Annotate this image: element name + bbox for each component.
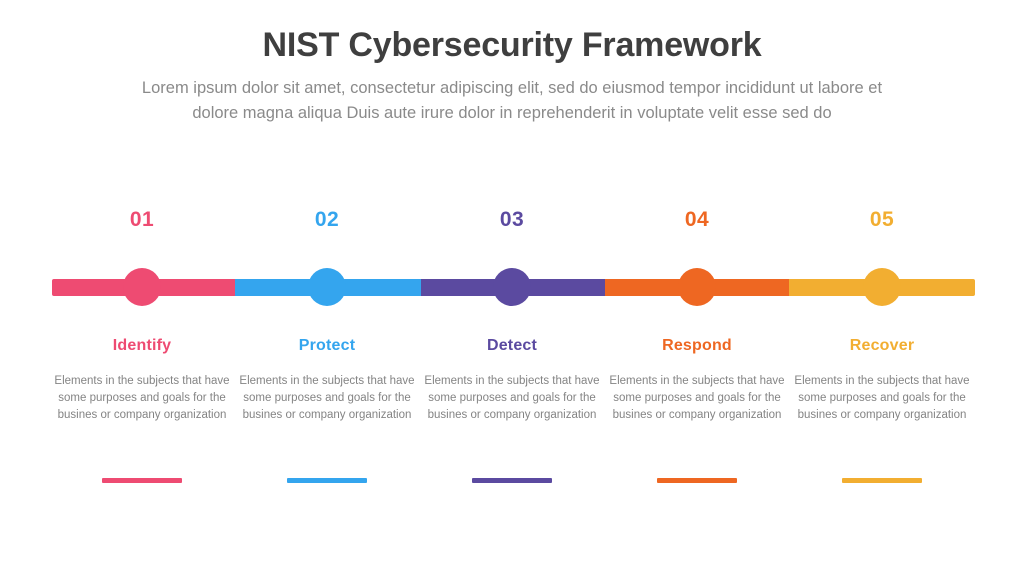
stage-underline-identify	[102, 478, 182, 483]
stage-underline-detect	[472, 478, 552, 483]
stage-label-identify: Identify	[49, 337, 235, 355]
header: NIST Cybersecurity Framework Lorem ipsum…	[0, 22, 1024, 126]
stage-description-identify: Elements in the subjects that have some …	[49, 373, 235, 424]
stage-label-recover: Recover	[789, 337, 975, 355]
stage-label-protect: Protect	[234, 337, 420, 355]
stage-number-identify: 01	[49, 208, 235, 232]
timeline-node-respond[interactable]	[678, 268, 716, 306]
stage-description-recover: Elements in the subjects that have some …	[789, 373, 975, 424]
timeline-node-detect[interactable]	[493, 268, 531, 306]
stage-description-respond: Elements in the subjects that have some …	[604, 373, 790, 424]
stage-underline-protect	[287, 478, 367, 483]
stage-number-respond: 04	[604, 208, 790, 232]
stage-label-respond: Respond	[604, 337, 790, 355]
timeline-node-recover[interactable]	[863, 268, 901, 306]
stage-number-detect: 03	[419, 208, 605, 232]
stage-description-detect: Elements in the subjects that have some …	[419, 373, 605, 424]
stage-underline-respond	[657, 478, 737, 483]
page-title: NIST Cybersecurity Framework	[0, 22, 1024, 68]
timeline-node-identify[interactable]	[123, 268, 161, 306]
stage-underline-recover	[842, 478, 922, 483]
stage-label-detect: Detect	[419, 337, 605, 355]
timeline-node-protect[interactable]	[308, 268, 346, 306]
stage-number-protect: 02	[234, 208, 420, 232]
page-subtitle: Lorem ipsum dolor sit amet, consectetur …	[122, 76, 902, 126]
stage-number-recover: 05	[789, 208, 975, 232]
infographic-slide: NIST Cybersecurity Framework Lorem ipsum…	[0, 0, 1024, 576]
stage-description-protect: Elements in the subjects that have some …	[234, 373, 420, 424]
